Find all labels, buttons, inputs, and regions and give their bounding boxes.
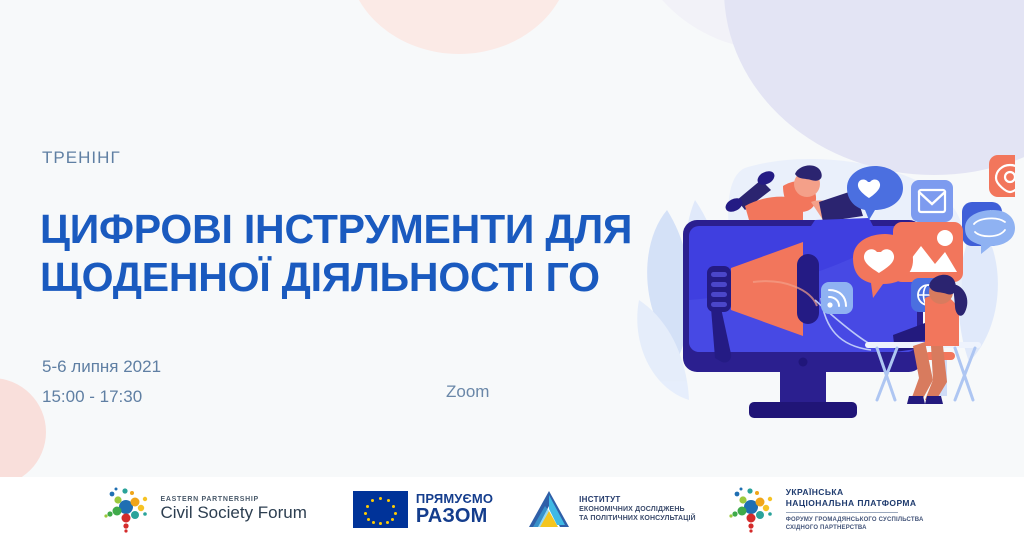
ghost-circle-shape <box>624 0 924 50</box>
event-date: 5-6 липня 2021 <box>42 352 161 382</box>
event-platform: Zoom <box>446 382 489 402</box>
envelope-icon <box>911 180 953 222</box>
logo-european-union: ПРЯМУЄМО РАЗОМ <box>353 491 493 528</box>
event-time: 15:00 - 17:30 <box>42 382 161 412</box>
footer-logos: EASTERN PARTNERSHIP Civil Society Forum <box>0 477 1024 541</box>
logo-line-top: ПРЯМУЄМО <box>416 492 493 506</box>
poster-text-block: ТРЕНІНГ ЦИФРОВІ ІНСТРУМЕНТИ ДЛЯ ЩОДЕННОЇ… <box>40 0 640 477</box>
logo-line-bottom: РАЗОМ <box>416 506 493 527</box>
lavender-circle-shape <box>724 0 1024 175</box>
logo-institute-for-economic-research: ІНСТИТУТ ЕКОНОМІЧНИХ ДОСЛІДЖЕНЬ ТА ПОЛІТ… <box>527 489 696 529</box>
eu-flag-icon <box>353 491 408 528</box>
unp-mark-icon <box>726 485 778 533</box>
logo-line-top: УКРАЇНСЬКА НАЦІОНАЛЬНА ПЛАТФОРМА <box>786 487 924 509</box>
page-title: ЦИФРОВІ ІНСТРУМЕНТИ ДЛЯ ЩОДЕННОЇ ДІЯЛЬНО… <box>40 205 632 301</box>
logo-divider <box>786 512 898 513</box>
logo-eastern-partnership-civil-society-forum: EASTERN PARTNERSHIP Civil Society Forum <box>101 485 307 533</box>
logo-ukrainian-national-platform: УКРАЇНСЬКА НАЦІОНАЛЬНА ПЛАТФОРМА ФОРУМУ … <box>726 485 924 533</box>
logo-line-sub: ФОРУМУ ГРОМАДЯНСЬКОГО СУСПІЛЬСТВА СХІДНО… <box>786 516 924 532</box>
event-type-label: ТРЕНІНГ <box>42 148 121 168</box>
rss-wifi-icon <box>821 282 853 314</box>
social-media-marketing-illustration <box>625 150 1015 450</box>
logo-line-bottom: Civil Society Forum <box>161 503 307 523</box>
location-pin-icon <box>989 155 1015 197</box>
logo-line-sub: ЕКОНОМІЧНИХ ДОСЛІДЖЕНЬ ТА ПОЛІТИЧНИХ КОН… <box>579 505 696 523</box>
eap-csf-mark-icon <box>101 485 153 533</box>
ier-triangle-mark-icon <box>527 489 571 529</box>
logo-line-top: ІНСТИТУТ <box>579 495 696 505</box>
event-poster: ТРЕНІНГ ЦИФРОВІ ІНСТРУМЕНТИ ДЛЯ ЩОДЕННОЇ… <box>0 0 1024 541</box>
event-schedule: 5-6 липня 2021 15:00 - 17:30 <box>42 352 161 412</box>
logo-line-top: EASTERN PARTNERSHIP <box>161 496 307 503</box>
